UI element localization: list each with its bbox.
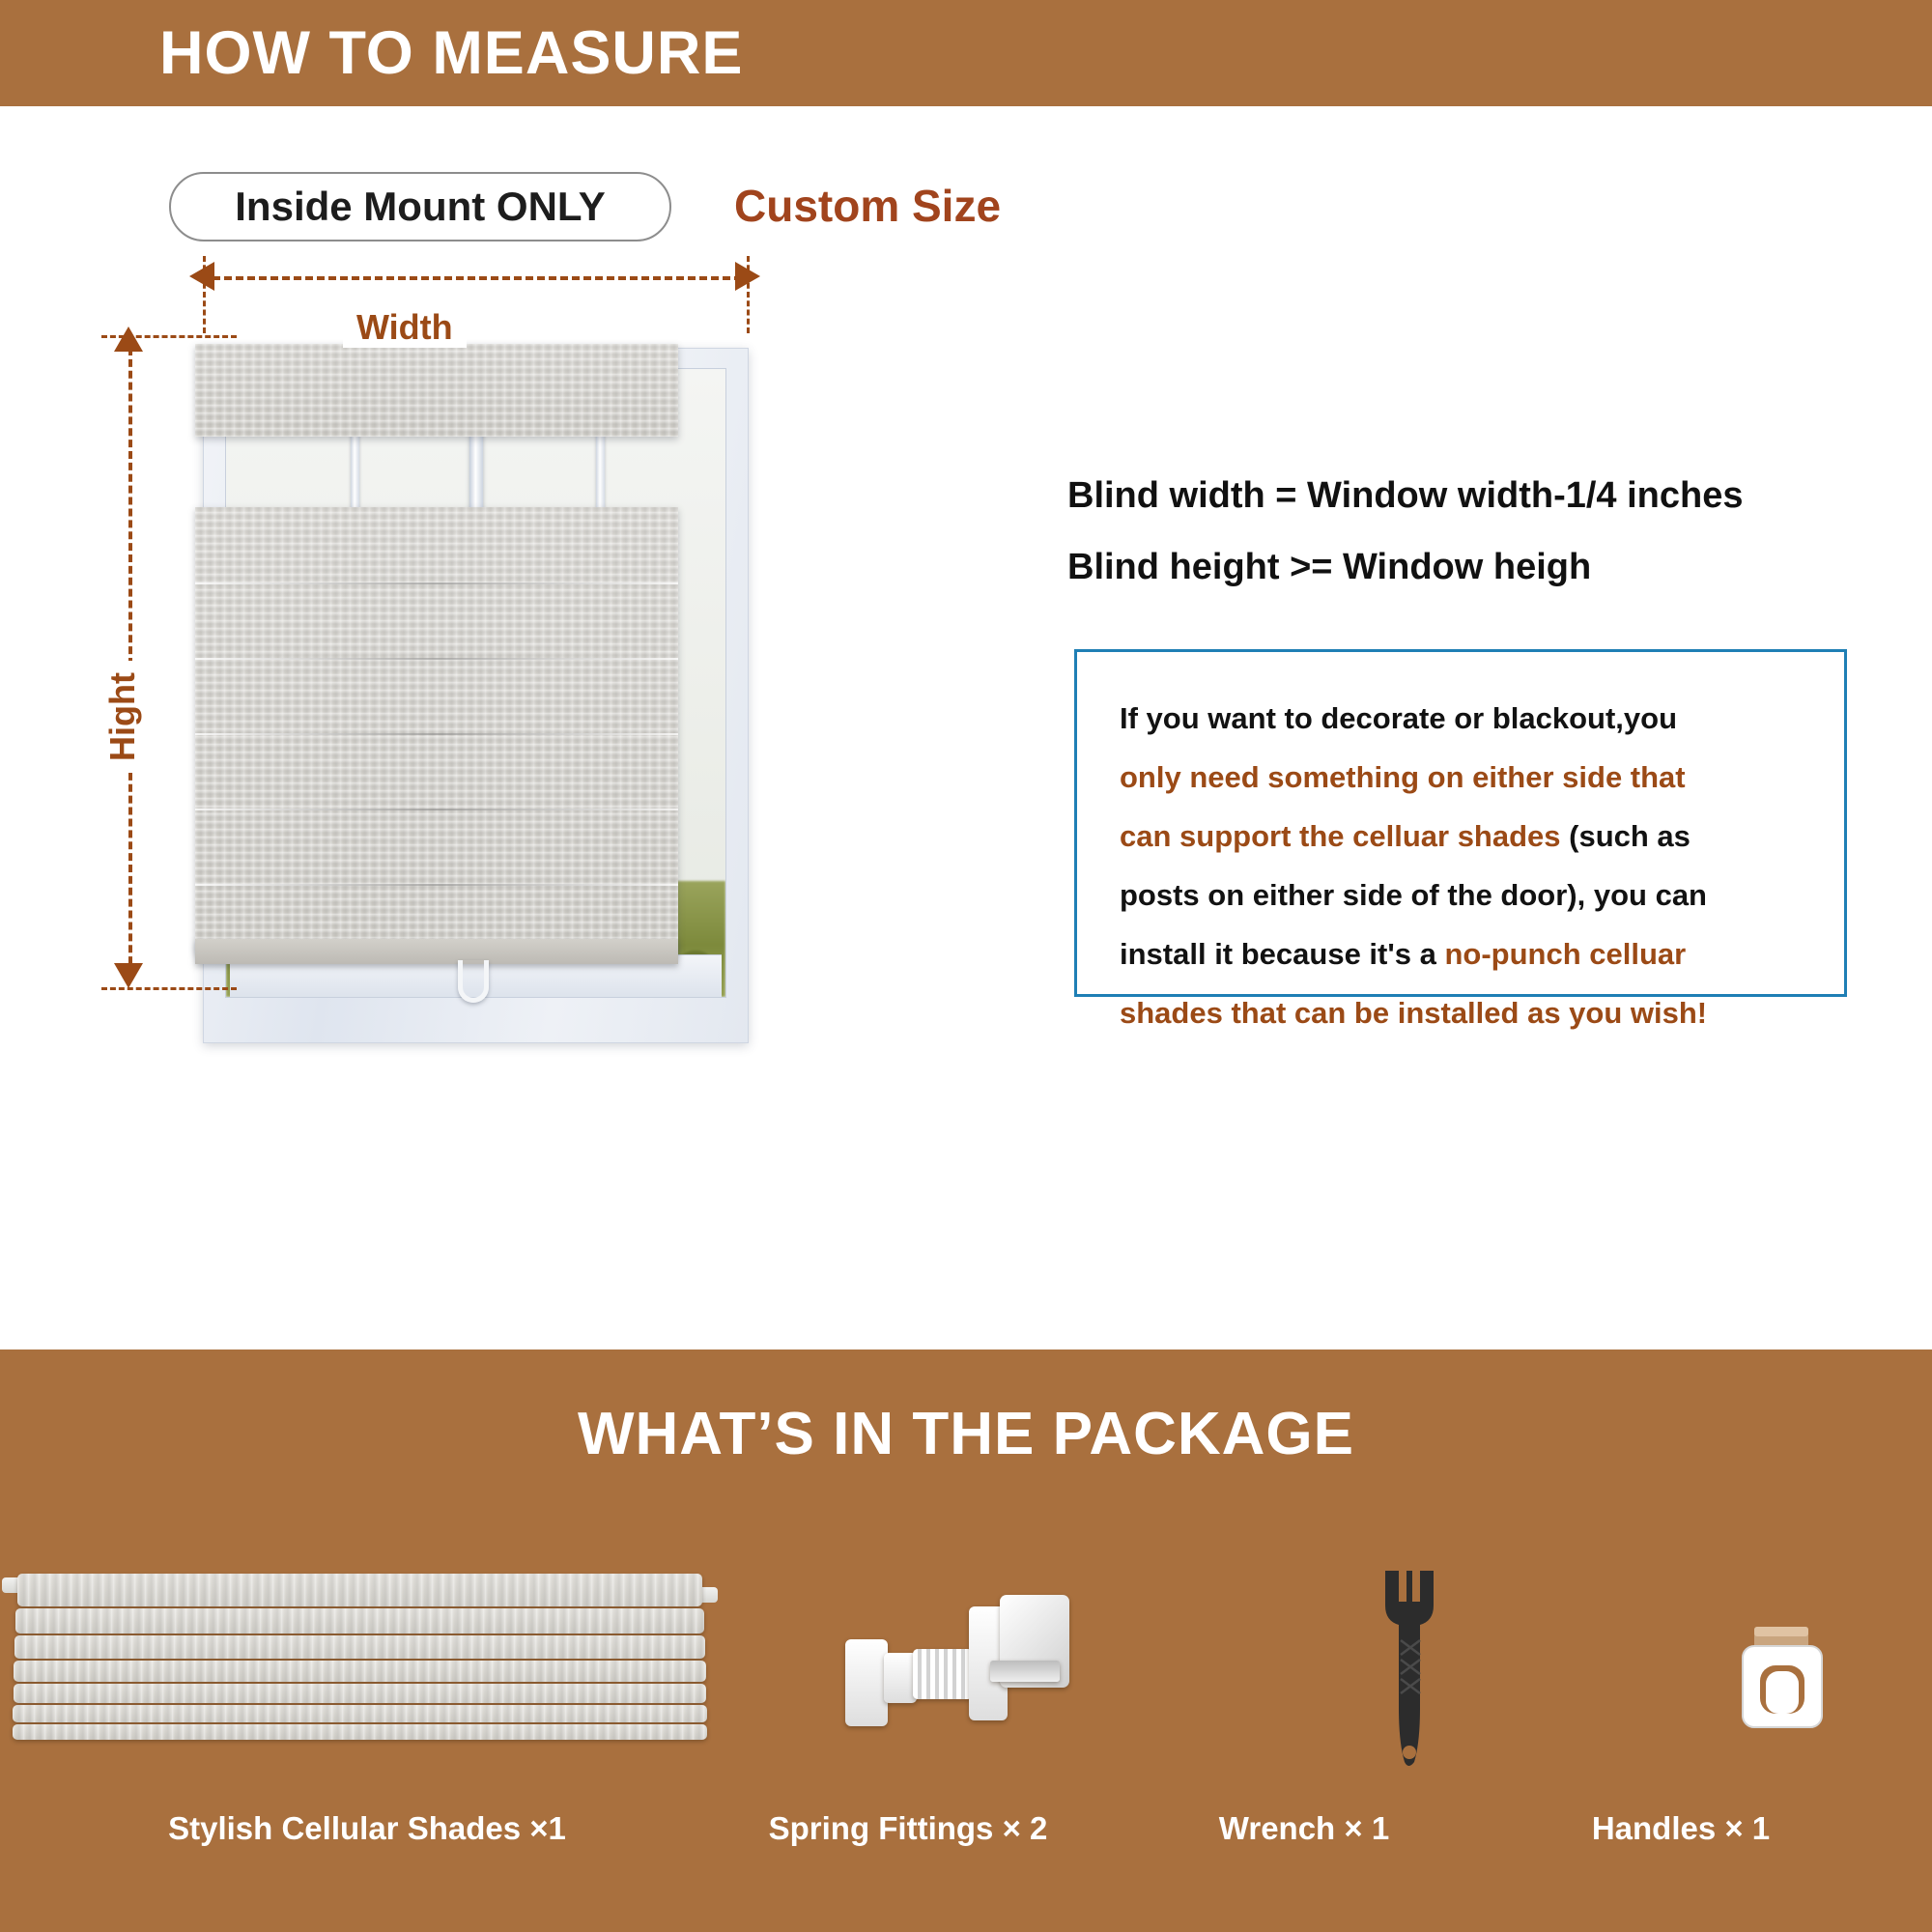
shade-bottom-rail xyxy=(195,939,678,964)
shade-fabric xyxy=(195,507,678,953)
note-text: posts on either side of the door), you c… xyxy=(1120,878,1707,912)
shade-pull-handle xyxy=(458,960,489,1003)
inside-mount-label: Inside Mount ONLY xyxy=(235,184,605,230)
note-line: shades that can be installed as you wish… xyxy=(1120,983,1805,1042)
note-line: install it because it's a no-punch cellu… xyxy=(1120,924,1805,983)
page-title: HOW TO MEASURE xyxy=(159,18,743,88)
note-line: posts on either side of the door), you c… xyxy=(1120,866,1805,924)
height-label: Hight xyxy=(102,661,143,773)
note-text-highlight: only need something on either side that xyxy=(1120,760,1686,794)
note-text-highlight: no-punch celluar xyxy=(1444,937,1686,971)
note-text-highlight: can support the celluar shades xyxy=(1120,819,1561,853)
note-text: If you want to decorate or blackout,you xyxy=(1120,701,1677,735)
width-label: Width xyxy=(343,307,467,348)
package-item-label: Handles × 1 xyxy=(1488,1810,1874,1847)
note-text: install it because it's a xyxy=(1120,937,1444,971)
formula-blind-width: Blind width = Window width-1/4 inches xyxy=(1067,475,1744,517)
inside-mount-badge: Inside Mount ONLY xyxy=(169,172,671,241)
width-arrow-right-icon xyxy=(735,262,760,291)
installation-note-box: If you want to decorate or blackout,you … xyxy=(1074,649,1847,997)
formula-blind-height: Blind height >= Window heigh xyxy=(1067,547,1591,588)
window-measure-diagram xyxy=(106,290,840,1063)
wrench-icon xyxy=(1352,1563,1468,1771)
top-banner: HOW TO MEASURE xyxy=(0,0,1932,106)
wrench-svg xyxy=(1352,1563,1468,1771)
cellular-shade-icon xyxy=(10,1560,710,1763)
spring-fitting-icon xyxy=(845,1589,1077,1748)
handle-icon xyxy=(1729,1623,1835,1734)
package-item-label: Stylish Cellular Shades ×1 xyxy=(68,1810,667,1847)
package-title: WHAT’S IN THE PACKAGE xyxy=(0,1400,1932,1468)
width-dimension-line xyxy=(213,276,742,280)
package-labels-row: Stylish Cellular Shades ×1 Spring Fittin… xyxy=(0,1810,1932,1868)
note-line: only need something on either side that xyxy=(1120,748,1805,807)
handle-svg xyxy=(1729,1623,1835,1734)
note-text: (such as xyxy=(1561,819,1690,853)
height-arrow-down-icon xyxy=(114,963,143,988)
shade-headrail xyxy=(195,344,678,437)
height-arrow-up-icon xyxy=(114,327,143,352)
width-arrow-left-icon xyxy=(189,262,214,291)
note-line: can support the celluar shades (such as xyxy=(1120,807,1805,866)
package-item-label: Wrench × 1 xyxy=(1150,1810,1459,1847)
note-line: If you want to decorate or blackout,you xyxy=(1120,689,1805,748)
custom-size-label: Custom Size xyxy=(734,180,1001,232)
note-text-highlight: shades that can be installed as you wish… xyxy=(1120,996,1707,1030)
package-item-label: Spring Fittings × 2 xyxy=(676,1810,1140,1847)
